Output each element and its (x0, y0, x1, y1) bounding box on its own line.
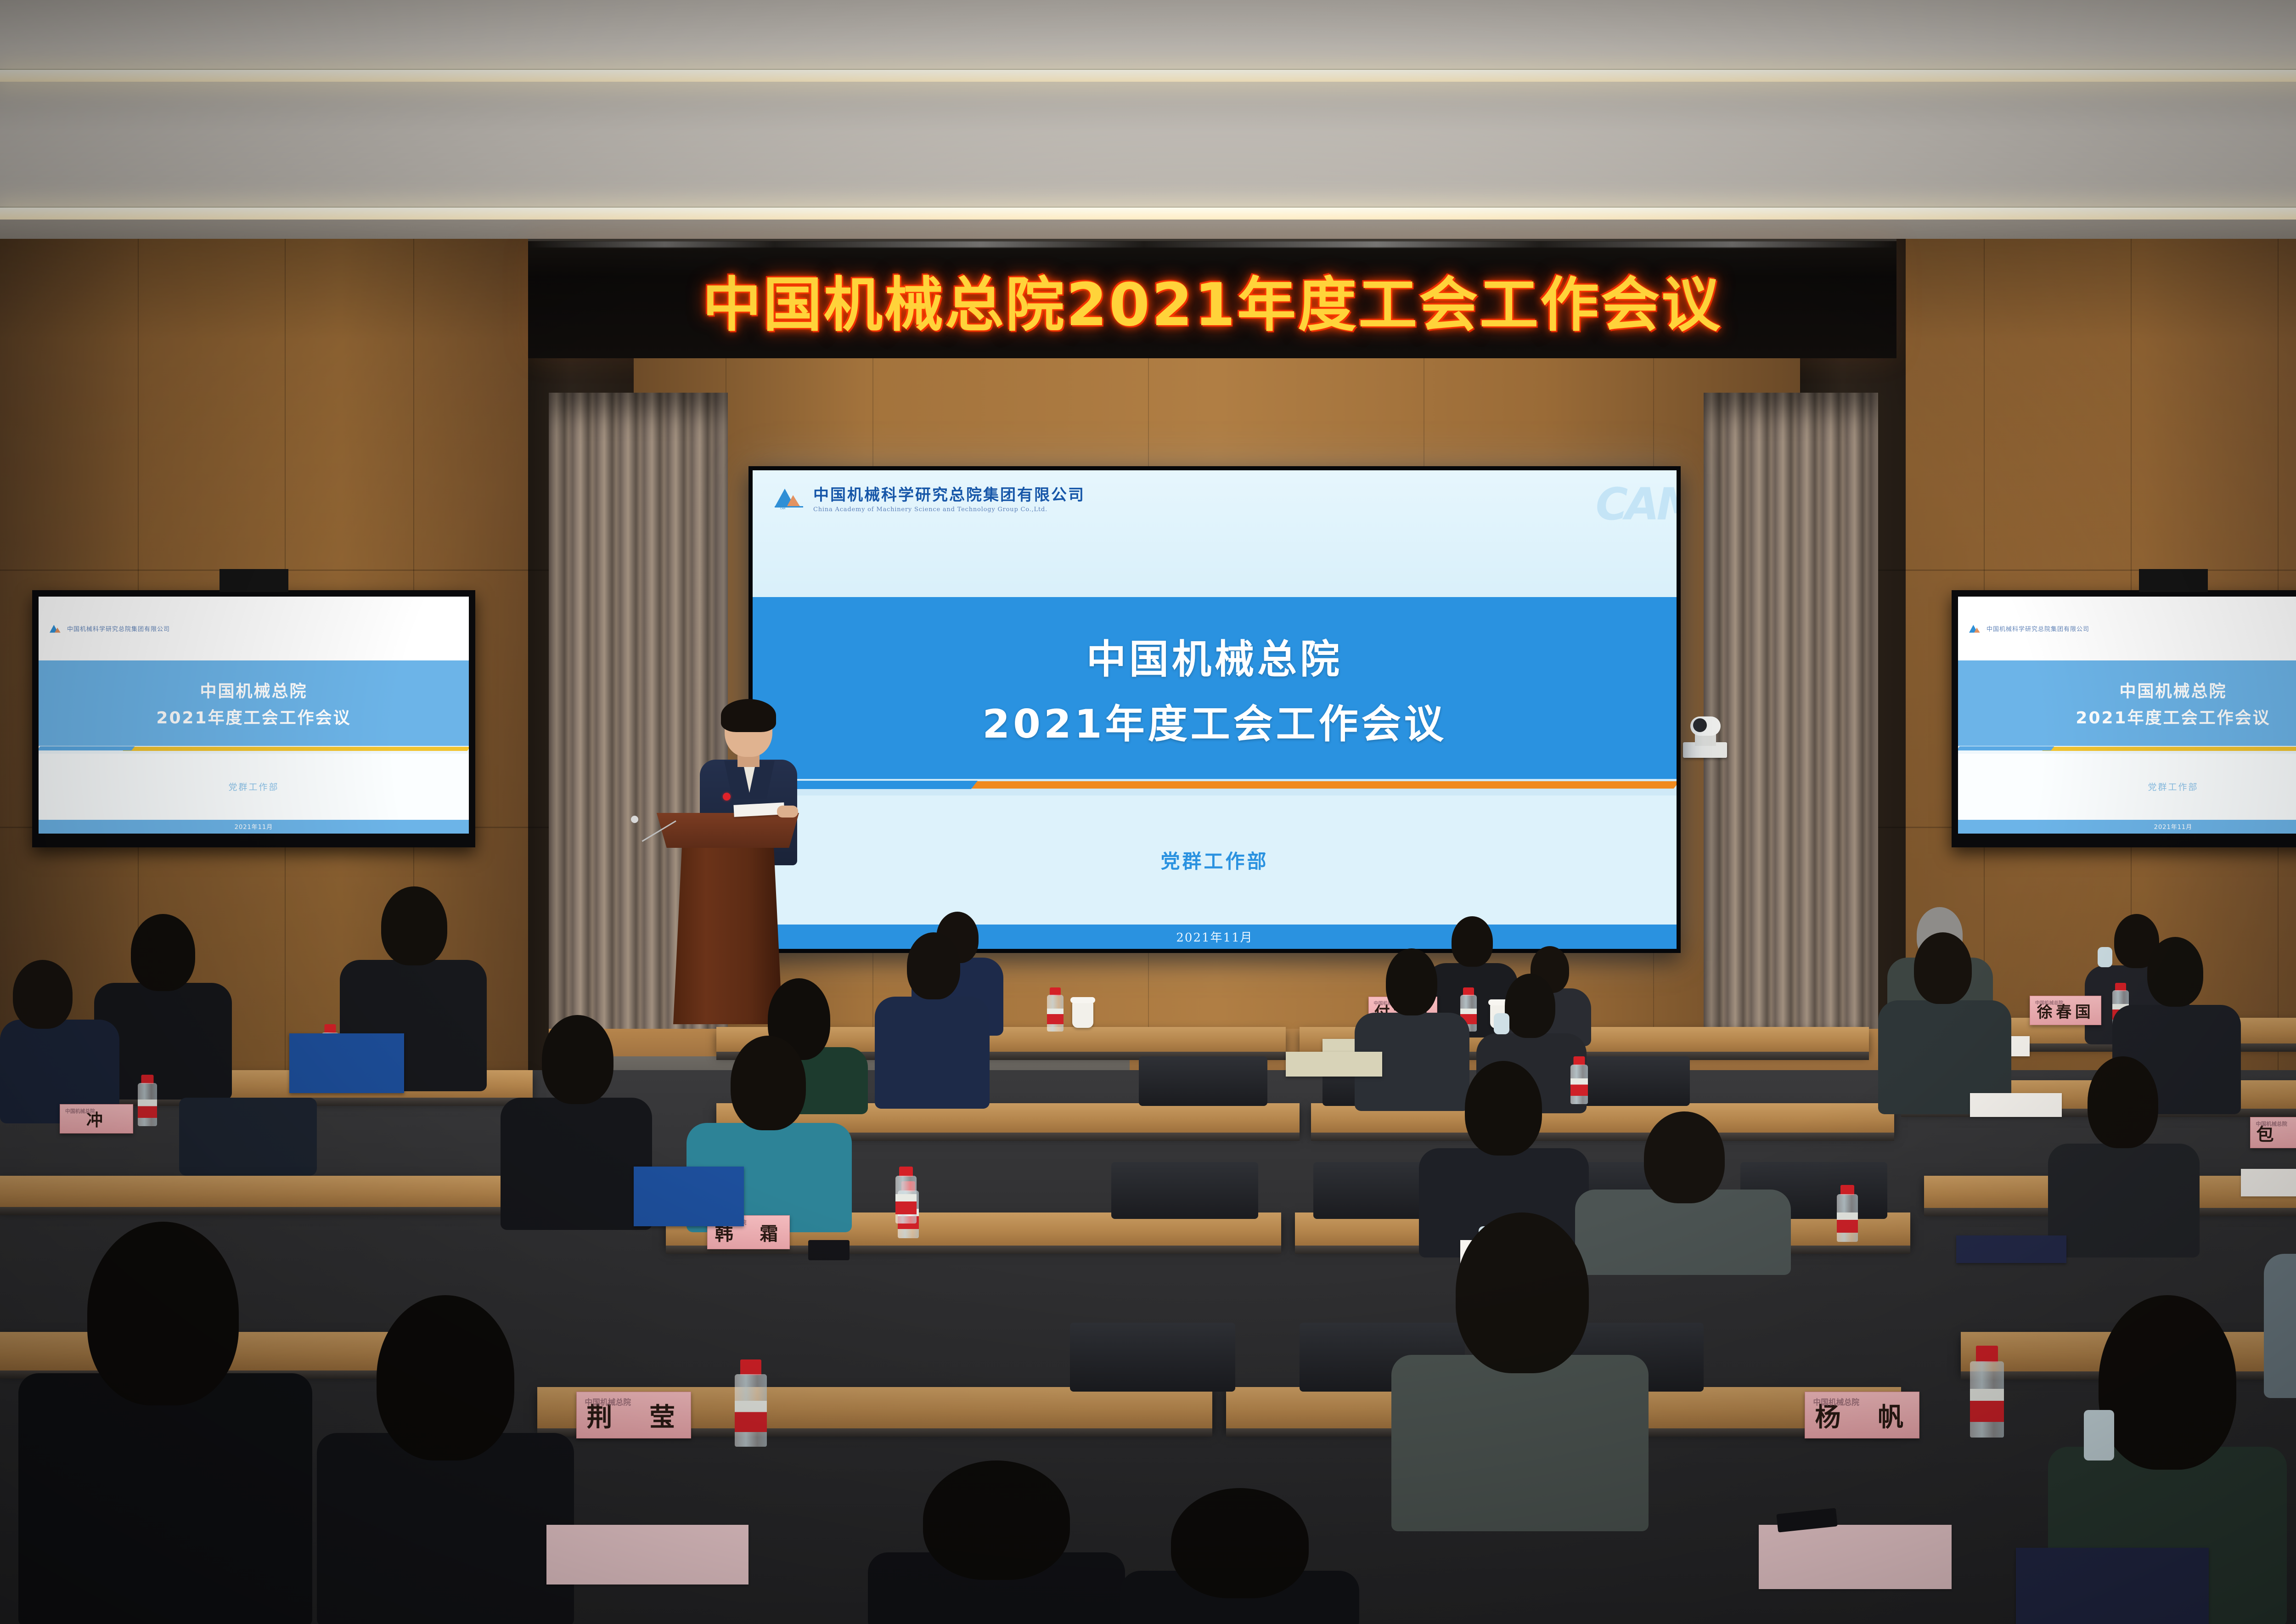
accent-orange-bar (953, 781, 1677, 789)
name-card-org-7: 中国机械总院 (1813, 1396, 1859, 1407)
name-card-jing-ying: 中国机械总院 荆 莹 (576, 1392, 691, 1438)
slide-department: 党群工作部 (1160, 846, 1268, 874)
side-monitor-right: 中国机械科学研究总院集团有限公司 中国机械总院 2021年度工会工作会议 党群工… (1952, 590, 2296, 847)
side-monitor-right-department: 党群工作部 (2148, 780, 2198, 793)
side-monitor-right-title-1: 中国机械总院 (2119, 678, 2227, 702)
paper-sheet-pink-d2 (1759, 1525, 1952, 1589)
attendee-d3 (868, 1460, 1125, 1624)
attendee-b7 (1878, 932, 2011, 1111)
water-bottle-a1 (1047, 987, 1064, 1032)
led-banner-text: 中国机械总院2021年度工会工作会议 (703, 257, 1722, 342)
main-projection-screen: CAM 中国机械科学研究总院集团有限公司 China Academy of Ma… (748, 466, 1681, 953)
attendee-d7 (2264, 1139, 2296, 1396)
podium-top (657, 813, 799, 848)
attendee-d1 (18, 1222, 312, 1624)
monitor-stand-left (219, 569, 288, 592)
microphone-head-icon (631, 816, 638, 823)
attendee-b3 (875, 932, 990, 1107)
attendee-d5 (1391, 1212, 1649, 1529)
notebook-d6 (2016, 1548, 2209, 1624)
attendee-d2 (317, 1295, 574, 1624)
laptop-c1 (634, 1167, 744, 1226)
water-bottle-d3 (895, 1167, 917, 1224)
slide-title-line-2: 2021年度工会工作会议 (982, 692, 1446, 749)
svg-text:CAM: CAM (780, 507, 785, 510)
speaker-hand (777, 806, 798, 818)
ptz-camera-icon (1683, 716, 1727, 758)
name-card-chong: 中国机械总院 冲 (60, 1104, 133, 1133)
water-bottle-d2 (1970, 1346, 2004, 1438)
slide-date: 2021年11月 (1176, 928, 1253, 945)
attendee-c1 (501, 1015, 652, 1226)
name-card-org-6: 中国机械总院 (2256, 1120, 2287, 1128)
ceiling-light-strip-upper (0, 70, 2296, 82)
face-mask-b6 (1494, 1013, 1509, 1034)
notebook-b5 (1286, 1052, 1382, 1077)
stage-curtain-right (1704, 393, 1878, 1079)
side-monitor-left-logo-text: 中国机械科学研究总院集团有限公司 (67, 624, 170, 633)
side-monitor-right-date: 2021年11月 (2154, 822, 2193, 831)
side-monitor-left: 中国机械科学研究总院集团有限公司 中国机械总院 2021年度工会工作会议 党群工… (32, 590, 475, 847)
ceiling-center-band (0, 81, 2296, 209)
water-bottle-b1 (138, 1075, 157, 1126)
cam-watermark: CAM (1596, 479, 1677, 530)
chair-back-b1 (1139, 1056, 1267, 1106)
name-card-xu-chunguo: 中国机械总院 徐春国 (2030, 996, 2101, 1025)
laptop-b2 (289, 1033, 404, 1093)
paper-sheet-pink-d1 (546, 1525, 748, 1585)
attendee-b0 (0, 960, 119, 1121)
side-monitor-left-title-2: 2021年度工会工作会议 (156, 705, 351, 728)
led-banner: 中国机械总院2021年度工会工作会议 (528, 239, 1896, 358)
notebook-c5 (1956, 1235, 2066, 1263)
monitor-stand-right (2139, 569, 2208, 592)
attendee-d4 (1120, 1488, 1359, 1624)
mountain-triangle-logo-icon-right (1968, 624, 1983, 634)
face-mask-d6 (2084, 1410, 2114, 1460)
tea-cup-a1 (1072, 1001, 1093, 1028)
side-monitor-left-date: 2021年11月 (235, 822, 273, 831)
phone-c2 (808, 1240, 850, 1260)
name-card-org-1: 中国机械总院 (65, 1107, 95, 1115)
side-monitor-left-title-1: 中国机械总院 (200, 678, 307, 702)
conference-hall-photo: 中国机械总院2021年度工会工作会议 CAM (0, 0, 2296, 1624)
mountain-triangle-logo-icon-left (49, 624, 63, 634)
backpack-b1 (179, 1098, 317, 1176)
name-card-yang-fan: 中国机械总院 杨 帆 (1805, 1392, 1919, 1438)
company-logo: CAM 中国机械科学研究总院集团有限公司 China Academy of Ma… (773, 482, 1085, 513)
slide-title-band: 中国机械总院 2021年度工会工作会议 (753, 597, 1677, 779)
mountain-triangle-logo-icon: CAM (773, 486, 807, 510)
slide-header: CAM 中国机械科学研究总院集团有限公司 China Academy of Ma… (753, 470, 1677, 597)
slide-title-line-1: 中国机械总院 (1086, 627, 1343, 684)
ceiling (0, 0, 2296, 257)
presentation-slide: CAM 中国机械科学研究总院集团有限公司 China Academy of Ma… (753, 470, 1677, 949)
name-card-org-5: 中国机械总院 (2035, 999, 2063, 1006)
speaker-hair (721, 699, 776, 732)
lapel-pin-icon (723, 793, 731, 801)
name-card-org-3: 中国机械总院 (585, 1396, 631, 1407)
side-monitor-right-title-2: 2021年度工会工作会议 (2076, 705, 2270, 728)
face-mask-a5 (2098, 947, 2112, 967)
ceiling-light-strip-lower (0, 208, 2296, 220)
company-logo-cn: 中国机械科学研究总院集团有限公司 (813, 482, 1085, 505)
side-monitor-right-logo-text: 中国机械科学研究总院集团有限公司 (1986, 624, 2089, 633)
company-logo-en: China Academy of Machinery Science and T… (813, 506, 1085, 513)
chair-back-d1 (1070, 1323, 1235, 1392)
slide-body: 党群工作部 (753, 795, 1677, 925)
attendee-c5 (2048, 1056, 2200, 1254)
slide-accent-stripe (753, 779, 1677, 795)
side-monitor-left-department: 党群工作部 (228, 780, 279, 793)
water-bottle-d1 (735, 1359, 767, 1447)
desk-row-c-far-left (0, 1176, 514, 1208)
chair-back-c1 (1111, 1162, 1258, 1219)
water-bottle-c4 (1837, 1185, 1858, 1242)
